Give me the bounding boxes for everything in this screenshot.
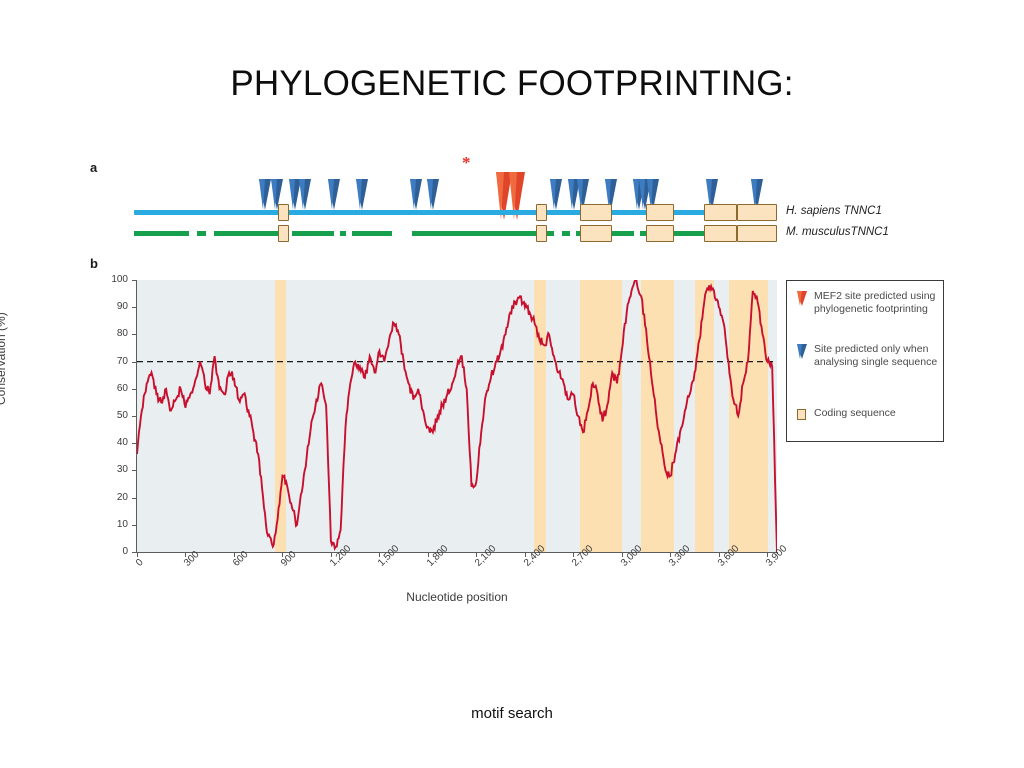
chart-legend: MEF2 site predicted using phylogenetic f… [786, 280, 944, 442]
figure: a * H. sapiens TNNC1 M. musculusTNNC1 b [0, 0, 1024, 768]
y-tick-label: 20 [92, 492, 128, 503]
panel-a-tracks: * H. sapiens TNNC1 M. musculusTNNC1 [0, 150, 1024, 250]
y-tick [132, 552, 136, 553]
chart-plot-area [137, 280, 777, 552]
y-tick-label: 70 [92, 356, 128, 367]
coding-sequence-box-mouse [704, 225, 737, 242]
y-axis-label: Conservation (%) [0, 312, 8, 405]
y-tick-label: 40 [92, 437, 128, 448]
slide-root: PHYLOGENETIC FOOTPRINTING: a * H. sapien… [0, 0, 1024, 768]
mouse-track [134, 231, 776, 236]
legend-item-single-sequence: Site predicted only when analysing singl… [796, 343, 938, 368]
y-axis-line [136, 280, 137, 552]
asterisk-marker: * [462, 154, 471, 171]
y-tick [132, 334, 136, 335]
y-tick-label: 60 [92, 383, 128, 394]
mouse-track-segment [292, 231, 334, 236]
coding-sequence-box-human [704, 204, 737, 221]
mouse-track-segment [412, 231, 554, 236]
y-tick-label: 100 [92, 274, 128, 285]
blue-site-triangle-icon [410, 179, 422, 210]
legend-label-coding-sequence: Coding sequence [814, 407, 896, 420]
mouse-track-segment [340, 231, 346, 236]
blue-site-triangle-icon [259, 179, 271, 210]
coding-sequence-box-human [278, 204, 289, 221]
y-tick [132, 525, 136, 526]
coding-sequence-box-human [580, 204, 612, 221]
y-tick [132, 498, 136, 499]
mouse-track-segment [562, 231, 570, 236]
y-tick-label: 50 [92, 410, 128, 421]
triangle-red-icon [796, 290, 809, 306]
human-track [134, 210, 776, 215]
coding-sequence-box-human [646, 204, 674, 221]
y-tick-label: 30 [92, 464, 128, 475]
coding-sequence-box-mouse [278, 225, 289, 242]
blue-site-triangle-icon [550, 179, 562, 210]
triangle-blue-icon [796, 343, 809, 359]
y-tick [132, 416, 136, 417]
mouse-track-segment [214, 231, 284, 236]
species-label-mouse: M. musculusTNNC1 [786, 226, 889, 238]
legend-item-coding-sequence: Coding sequence [796, 407, 938, 423]
y-tick [132, 362, 136, 363]
mouse-track-segment [134, 231, 189, 236]
coding-sequence-box-mouse [737, 225, 777, 242]
legend-label-single-sequence: Site predicted only when analysing singl… [814, 343, 938, 368]
blue-site-triangle-icon [356, 179, 368, 210]
y-tick-label: 0 [92, 546, 128, 557]
y-tick-label: 90 [92, 301, 128, 312]
y-tick [132, 389, 136, 390]
blue-site-triangle-icon [328, 179, 340, 210]
coding-sequence-box-human [536, 204, 547, 221]
y-tick [132, 443, 136, 444]
coding-sequence-box-mouse [536, 225, 547, 242]
y-tick-label: 10 [92, 519, 128, 530]
coding-box-icon [796, 407, 809, 423]
y-tick [132, 307, 136, 308]
mouse-track-segment [197, 231, 206, 236]
legend-label-mef2: MEF2 site predicted using phylogenetic f… [814, 290, 938, 315]
species-label-human: H. sapiens TNNC1 [786, 205, 882, 217]
y-tick [132, 470, 136, 471]
blue-site-triangle-icon [299, 179, 311, 210]
blue-site-triangle-icon [427, 179, 439, 210]
coding-sequence-box-mouse [646, 225, 674, 242]
legend-item-mef2: MEF2 site predicted using phylogenetic f… [796, 290, 938, 315]
slide-caption: motif search [0, 705, 1024, 722]
x-axis-label: Nucleotide position [137, 590, 777, 604]
y-tick-label: 80 [92, 328, 128, 339]
conservation-line-chart [137, 280, 777, 552]
y-tick [132, 280, 136, 281]
conservation-trace [137, 280, 777, 552]
coding-sequence-box-mouse [580, 225, 612, 242]
x-tick-label: 0 [134, 557, 146, 569]
coding-sequence-box-human [737, 204, 777, 221]
mouse-track-segment [352, 231, 392, 236]
